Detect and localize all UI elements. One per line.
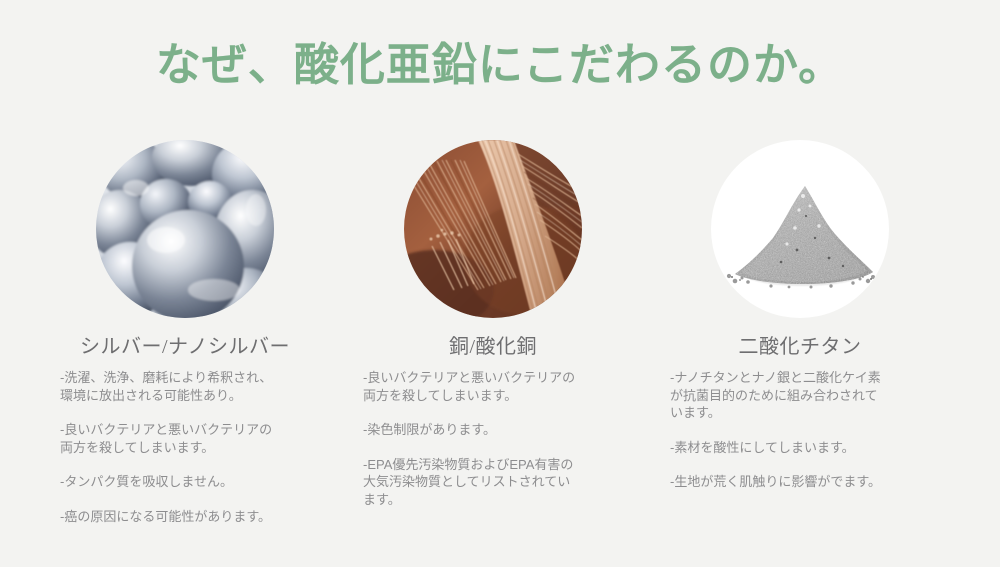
silver-nanoparticle-spheres-image [96, 140, 274, 318]
thumb-wrap-copper [404, 140, 582, 318]
bullet-item: -タンパク質を吸収しません。 [60, 473, 330, 491]
bullet-item: -素材を酸性にしてしまいます。 [670, 439, 945, 457]
bullet-list-titanium: -ナノチタンとナノ銀と二酸化ケイ素 が抗菌目的のために組み合わされて います。 … [655, 369, 945, 491]
page-title: なぜ、酸化亜鉛にこだわるのか。 [0, 36, 1000, 94]
bullet-item: -EPA優先汚染物質およびEPA有害の 大気汚染物質としてリストされてい ます。 [363, 456, 638, 509]
column-heading-copper: 銅/酸化銅 [348, 334, 638, 360]
thumb-wrap-titanium [711, 140, 889, 318]
column-heading-titanium: 二酸化チタン [655, 334, 945, 360]
column-silver: シルバー/ナノシルバー -洗濯、洗浄、磨耗により希釈され、 環境に放出される可能… [40, 140, 330, 525]
bullet-item: -良いバクテリアと悪いバクテリアの 両方を殺してしまいます。 [363, 369, 638, 404]
bullet-item: -癌の原因になる可能性があります。 [60, 508, 330, 526]
column-heading-silver: シルバー/ナノシルバー [40, 334, 330, 360]
column-copper: 銅/酸化銅 -良いバクテリアと悪いバクテリアの 両方を殺してしまいます。 -染色… [348, 140, 638, 508]
bullet-item: -生地が荒く肌触りに影響がでます。 [670, 473, 945, 491]
thumb-wrap-silver [96, 140, 274, 318]
bullet-list-copper: -良いバクテリアと悪いバクテリアの 両方を殺してしまいます。 -染色制限がありま… [348, 369, 638, 508]
bullet-list-silver: -洗濯、洗浄、磨耗により希釈され、 環境に放出される可能性あり。 -良いバクテリ… [40, 369, 330, 525]
column-titanium: 二酸化チタン -ナノチタンとナノ銀と二酸化ケイ素 が抗菌目的のために組み合わされ… [655, 140, 945, 491]
slide-root: なぜ、酸化亜鉛にこだわるのか。 [0, 0, 1000, 567]
bullet-item: -良いバクテリアと悪いバクテリアの 両方を殺してしまいます。 [60, 421, 330, 456]
bullet-item: -ナノチタンとナノ銀と二酸化ケイ素 が抗菌目的のために組み合わされて います。 [670, 369, 945, 422]
bullet-item: -洗濯、洗浄、磨耗により希釈され、 環境に放出される可能性あり。 [60, 369, 330, 404]
bullet-item: -染色制限があります。 [363, 421, 638, 439]
copper-wire-strands-image [404, 140, 582, 318]
comparison-columns: シルバー/ナノシルバー -洗濯、洗浄、磨耗により希釈され、 環境に放出される可能… [0, 140, 1000, 560]
titanium-dioxide-powder-image [711, 140, 889, 318]
